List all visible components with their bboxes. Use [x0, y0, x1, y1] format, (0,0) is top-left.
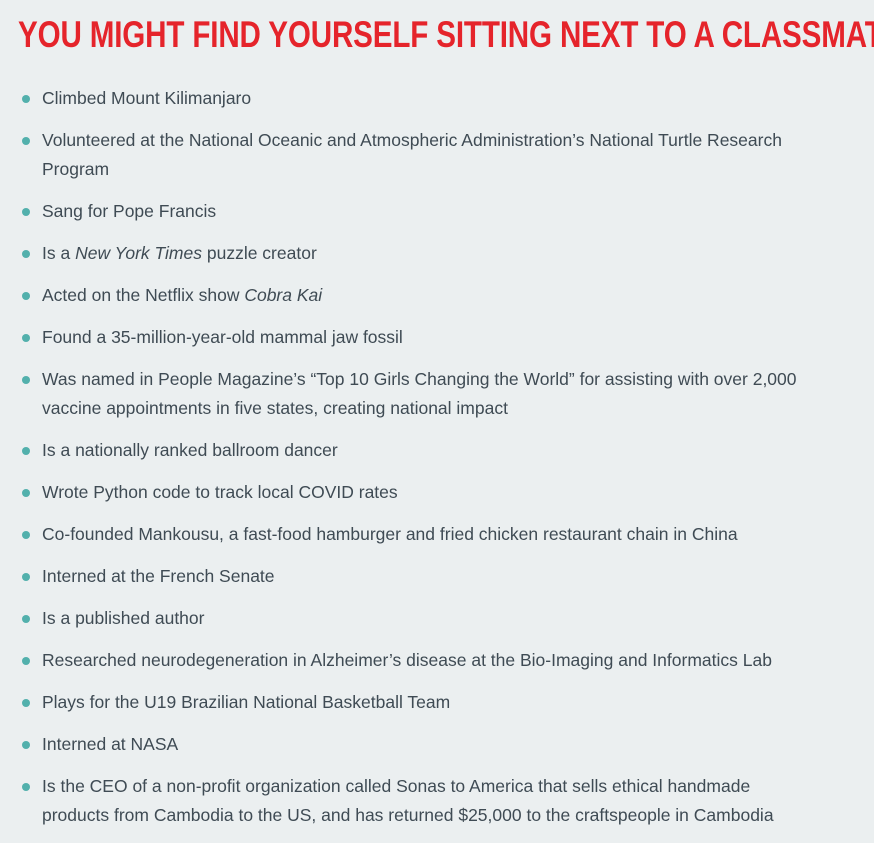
list-item-text: Acted on the Netflix show Cobra Kai: [42, 281, 819, 310]
list-item: Climbed Mount Kilimanjaro: [0, 84, 843, 126]
page-root: YOU MIGHT FIND YOURSELF SITTING NEXT TO …: [0, 0, 874, 823]
list-item: Sang for Pope Francis: [0, 197, 843, 239]
list-item: Is a nationally ranked ballroom dancer: [0, 436, 843, 478]
list-item-text: Was named in People Magazine’s “Top 10 G…: [42, 365, 819, 423]
list-item-text: Is a published author: [42, 604, 819, 633]
list-item: Wrote Python code to track local COVID r…: [0, 478, 843, 520]
list-item-text: Is a New York Times puzzle creator: [42, 239, 819, 268]
list-item-text: Sang for Pope Francis: [42, 197, 819, 226]
list-item-text: Interned at NASA: [42, 730, 819, 759]
list-item: Found a 35-million-year-old mammal jaw f…: [0, 323, 843, 365]
list-item: Researched neurodegeneration in Alzheime…: [0, 646, 843, 688]
bullet-dot-icon: [22, 292, 30, 300]
list-item: Is a New York Times puzzle creator: [0, 239, 843, 281]
list-item: Interned at the French Senate: [0, 562, 843, 604]
list-item: Volunteered at the National Oceanic and …: [0, 126, 843, 197]
list-item-text: Volunteered at the National Oceanic and …: [42, 126, 819, 184]
bullet-dot-icon: [22, 208, 30, 216]
classmate-fact-list: Climbed Mount KilimanjaroVolunteered at …: [0, 84, 874, 843]
bullet-dot-icon: [22, 657, 30, 665]
bullet-dot-icon: [22, 615, 30, 623]
bullet-dot-icon: [22, 741, 30, 749]
list-item: Was named in People Magazine’s “Top 10 G…: [0, 365, 843, 436]
list-item-text: Plays for the U19 Brazilian National Bas…: [42, 688, 819, 717]
bullet-dot-icon: [22, 334, 30, 342]
list-item-text-prefix: Is a: [42, 243, 75, 263]
list-item-text: Wrote Python code to track local COVID r…: [42, 478, 819, 507]
list-item-text: Co-founded Mankousu, a fast-food hamburg…: [42, 520, 819, 549]
list-item-text: Interned at the French Senate: [42, 562, 819, 591]
list-item: Is the CEO of a non-profit organization …: [0, 772, 843, 843]
list-item-text: Is the CEO of a non-profit organization …: [42, 772, 819, 830]
list-item: Acted on the Netflix show Cobra Kai: [0, 281, 843, 323]
bullet-dot-icon: [22, 447, 30, 455]
bullet-dot-icon: [22, 489, 30, 497]
list-item-text-italic: New York Times: [75, 243, 202, 263]
list-item-text: Found a 35-million-year-old mammal jaw f…: [42, 323, 819, 352]
list-item-text: Climbed Mount Kilimanjaro: [42, 84, 819, 113]
bullet-dot-icon: [22, 573, 30, 581]
list-item-text: Researched neurodegeneration in Alzheime…: [42, 646, 819, 675]
bullet-dot-icon: [22, 376, 30, 384]
bullet-dot-icon: [22, 137, 30, 145]
bullet-dot-icon: [22, 95, 30, 103]
bullet-dot-icon: [22, 531, 30, 539]
bullet-dot-icon: [22, 783, 30, 791]
list-item: Is a published author: [0, 604, 843, 646]
list-item-text: Is a nationally ranked ballroom dancer: [42, 436, 819, 465]
list-item-text-suffix: puzzle creator: [202, 243, 317, 263]
list-item: Interned at NASA: [0, 730, 843, 772]
list-item-text-italic: Cobra Kai: [244, 285, 322, 305]
list-item: Plays for the U19 Brazilian National Bas…: [0, 688, 843, 730]
bullet-dot-icon: [22, 699, 30, 707]
bullet-dot-icon: [22, 250, 30, 258]
list-item-text-prefix: Acted on the Netflix show: [42, 285, 244, 305]
page-title: YOU MIGHT FIND YOURSELF SITTING NEXT TO …: [18, 15, 690, 55]
list-item: Co-founded Mankousu, a fast-food hamburg…: [0, 520, 843, 562]
